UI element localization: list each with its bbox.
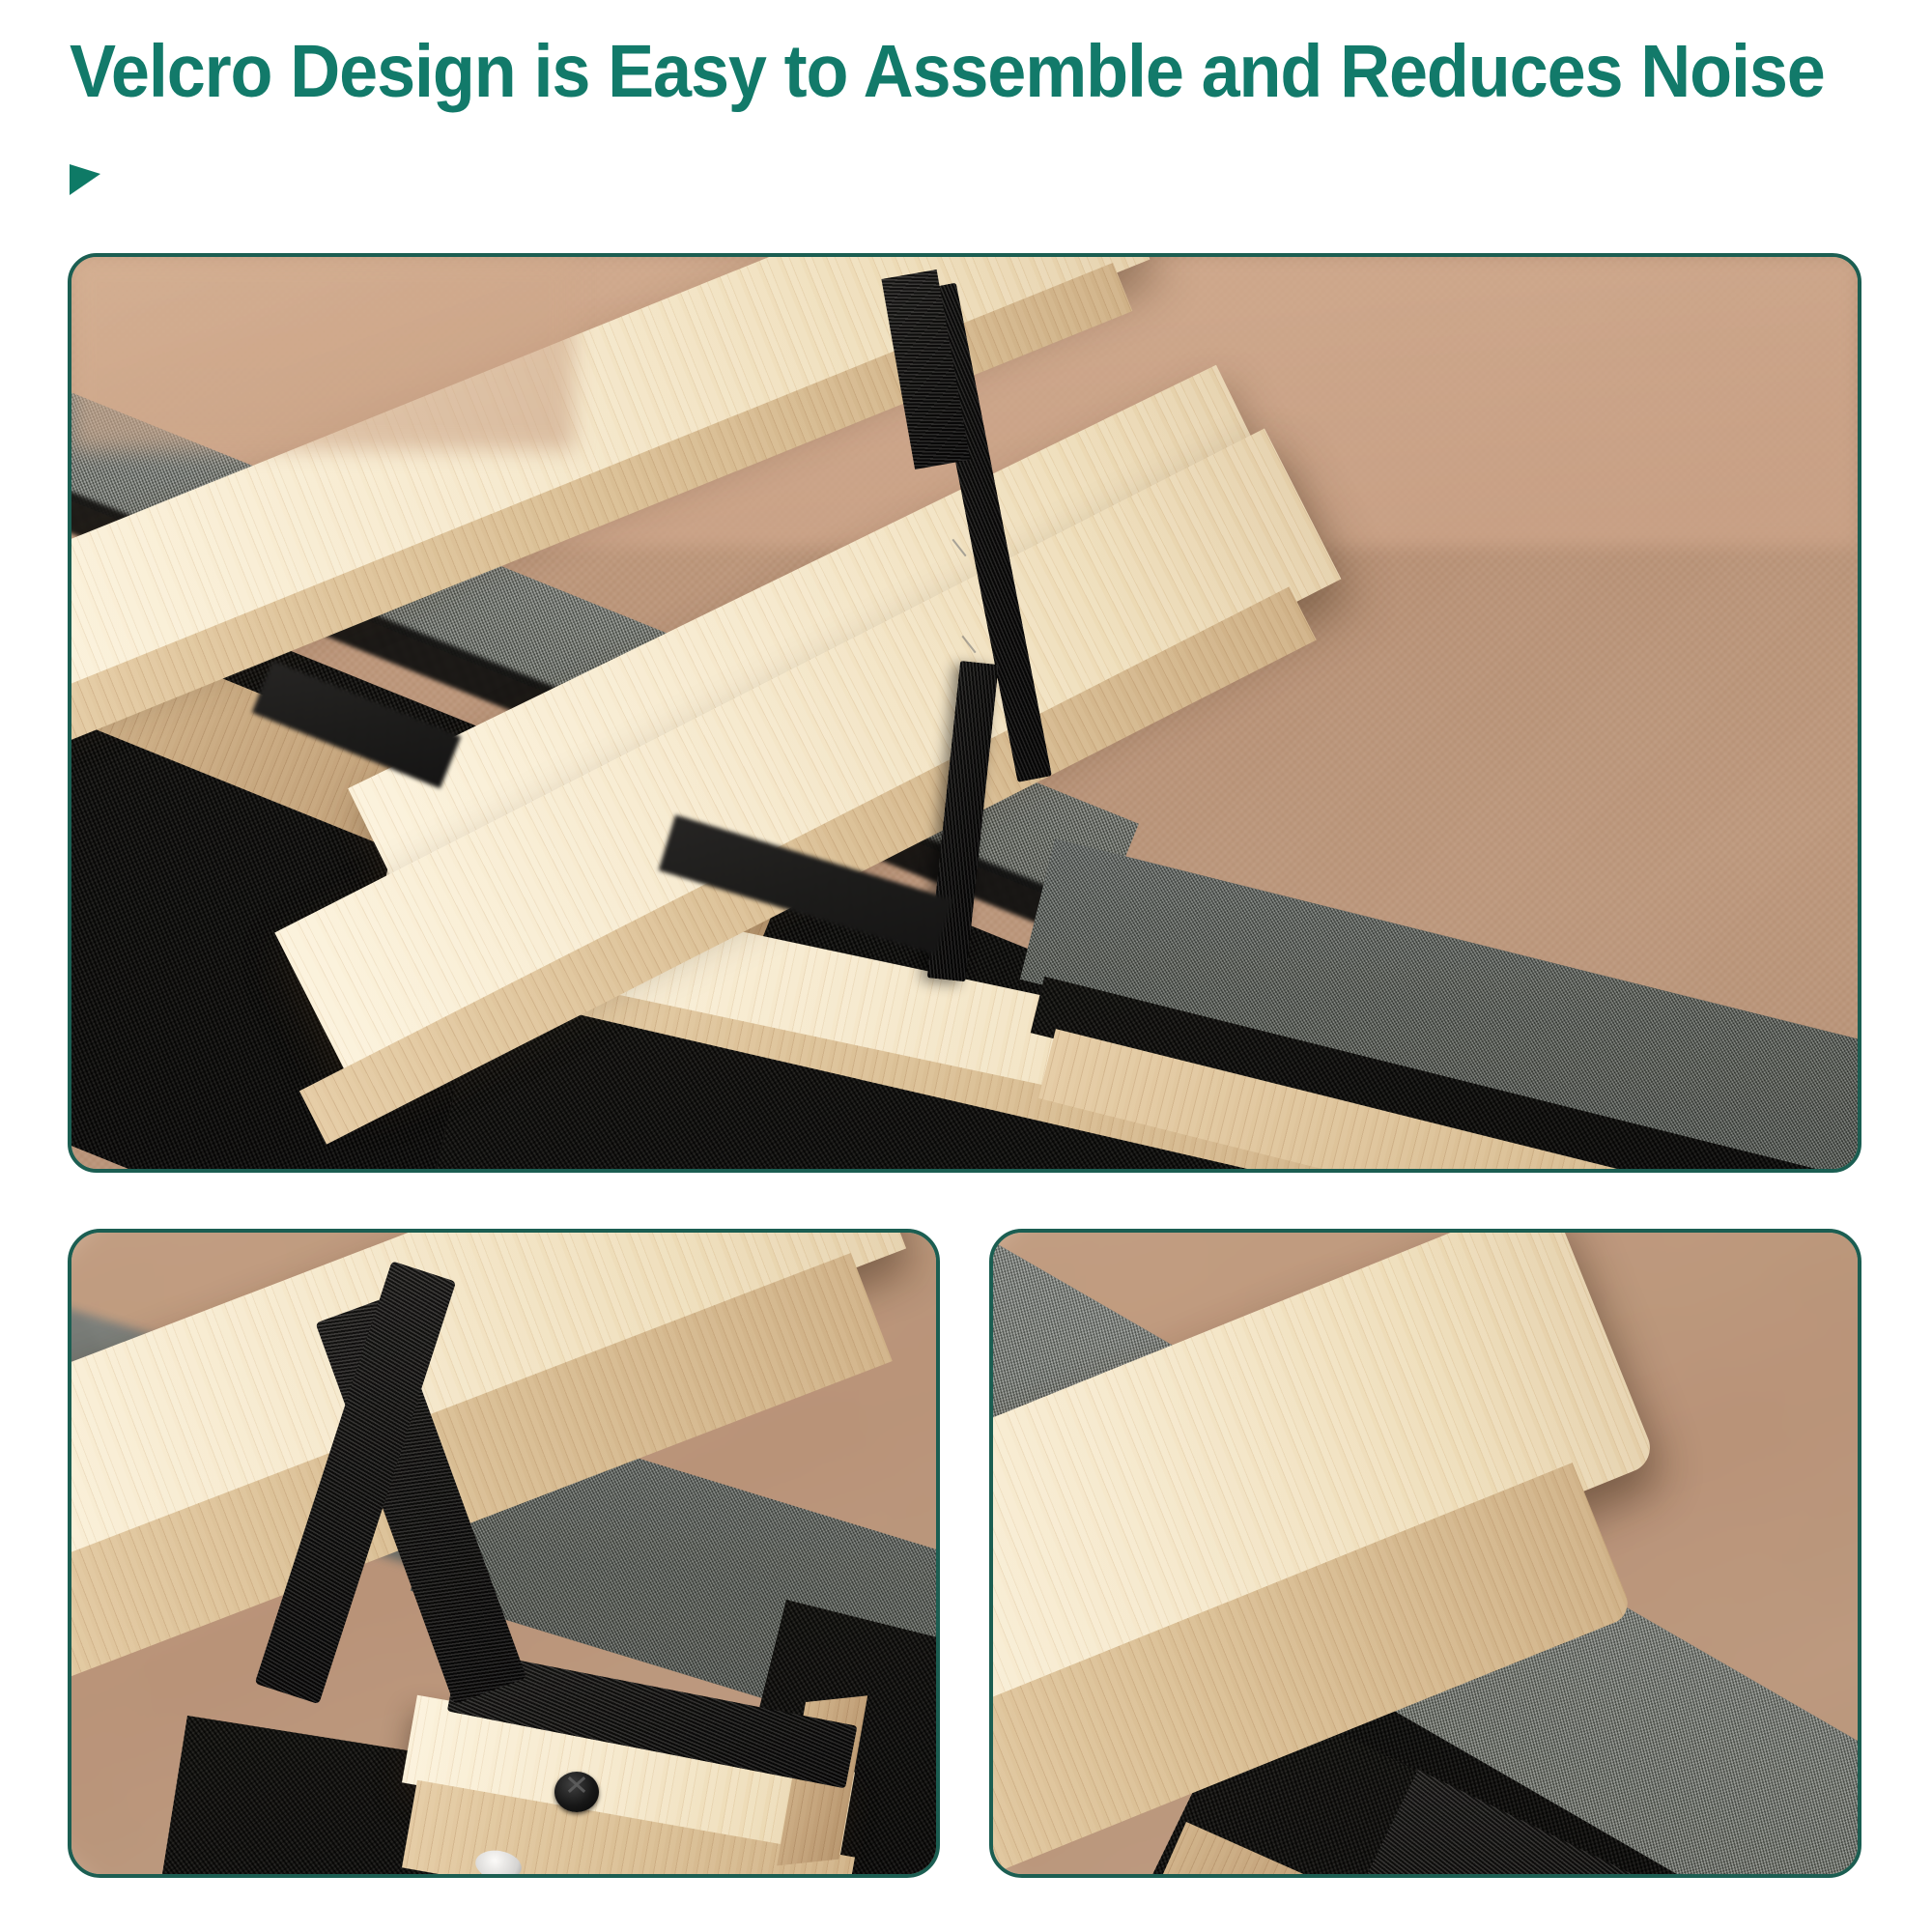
detail-photo-right: [989, 1229, 1861, 1878]
detail-right-scene: [993, 1233, 1858, 1874]
floor-corner-blur: [71, 257, 574, 450]
detail-photo-left: [68, 1229, 940, 1878]
detail-left-scene: [71, 1233, 936, 1874]
product-feature-page: Velcro Design is Easy to Assemble and Re…: [0, 0, 1932, 1932]
main-photo-scene: [71, 257, 1858, 1169]
play-triangle-icon: [70, 164, 100, 195]
page-title: Velcro Design is Easy to Assemble and Re…: [70, 35, 1749, 109]
screw-head-icon: [554, 1772, 599, 1812]
main-photo: [68, 253, 1861, 1173]
